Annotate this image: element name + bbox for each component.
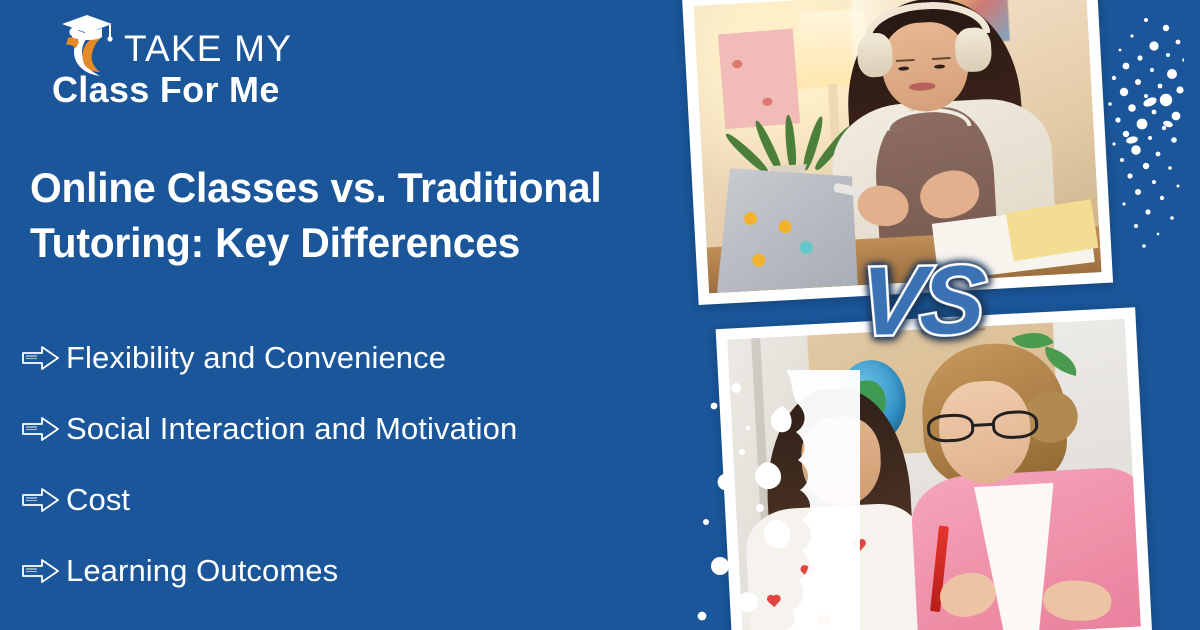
headline-line-2: Tutoring: Key Differences	[30, 215, 699, 270]
photo-in-person-tutoring-image: CYCLE	[727, 319, 1141, 630]
list-item-label: Social Interaction and Motivation	[66, 413, 517, 444]
headline-line-1: Online Classes vs. Traditional	[30, 160, 699, 215]
page-title: Online Classes vs. Traditional Tutoring:…	[30, 160, 699, 271]
list-item-label: Flexibility and Convenience	[66, 342, 446, 373]
left-content-column: TAKE MY Class For Me Online Classes vs. …	[0, 0, 700, 630]
vs-badge: VS	[857, 251, 985, 350]
social-share-banner: TAKE MY Class For Me Online Classes vs. …	[0, 0, 1200, 630]
photo-in-person-tutoring: CYCLE	[716, 307, 1153, 630]
list-item: Learning Outcomes	[18, 535, 698, 606]
arrow-right-outline-icon	[18, 416, 66, 442]
right-edge-strip	[1184, 0, 1200, 630]
list-item-label: Learning Outcomes	[66, 555, 338, 586]
brand-logo[interactable]: TAKE MY Class For Me	[28, 10, 348, 110]
logo-text-take-my: TAKE MY	[124, 30, 292, 67]
logo-text-class-for-me: Class For Me	[52, 72, 280, 108]
list-item: Social Interaction and Motivation	[18, 393, 698, 464]
list-item: Flexibility and Convenience	[18, 322, 698, 393]
list-item-label: Cost	[66, 484, 130, 515]
arrow-right-outline-icon	[18, 345, 66, 371]
arrow-right-outline-icon	[18, 558, 66, 584]
arrow-right-outline-icon	[18, 487, 66, 513]
key-points-list: Flexibility and Convenience Social Inter…	[18, 322, 698, 606]
list-item: Cost	[18, 464, 698, 535]
